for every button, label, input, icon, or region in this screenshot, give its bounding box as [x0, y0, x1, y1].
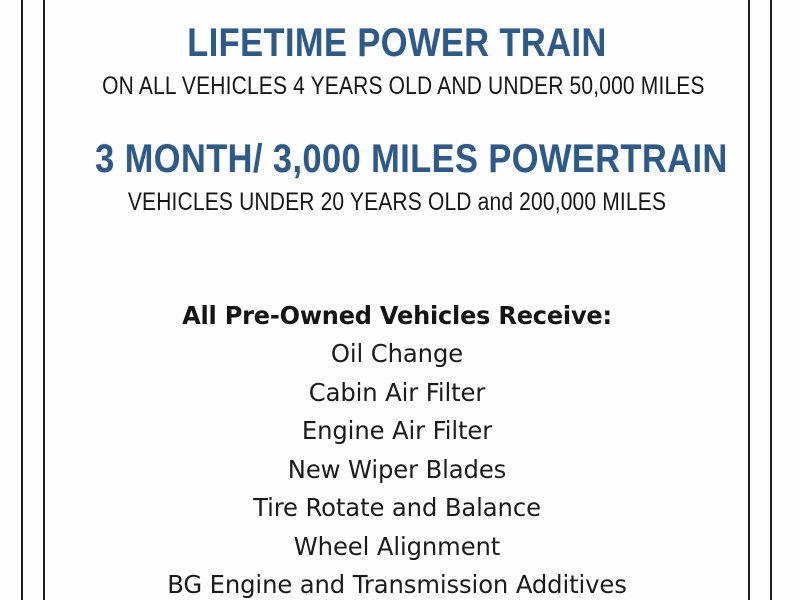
- frame-rule-left-inner: [43, 0, 45, 600]
- list-item: New Wiper Blades: [57, 451, 738, 490]
- list-item: Wheel Alignment: [57, 528, 738, 567]
- warranty-headline-3month: 3 MONTH/ 3,000 MILES POWERTRAIN: [95, 138, 699, 180]
- promo-flyer: LIFETIME POWER TRAIN ON ALL VEHICLES 4 Y…: [0, 0, 800, 600]
- list-item: Oil Change: [57, 335, 738, 374]
- frame-rule-right-inner: [748, 0, 750, 600]
- warranty-subline-lifetime: ON ALL VEHICLES 4 YEARS OLD AND UNDER 50…: [102, 73, 692, 100]
- list-item: Cabin Air Filter: [57, 374, 738, 413]
- list-item: Tire Rotate and Balance: [57, 489, 738, 528]
- warranty-block-lifetime: LIFETIME POWER TRAIN ON ALL VEHICLES 4 Y…: [46, 22, 748, 100]
- warranty-block-3month: 3 MONTH/ 3,000 MILES POWERTRAIN VEHICLES…: [46, 138, 748, 216]
- frame-rule-right-outer: [770, 0, 772, 600]
- frame-rule-left-outer: [21, 0, 23, 600]
- list-item: BG Engine and Transmission Additives: [57, 566, 738, 600]
- list-item: Engine Air Filter: [57, 412, 738, 451]
- flyer-content: LIFETIME POWER TRAIN ON ALL VEHICLES 4 Y…: [46, 0, 748, 600]
- warranty-headline-lifetime: LIFETIME POWER TRAIN: [95, 22, 699, 64]
- services-list: All Pre-Owned Vehicles Receive: Oil Chan…: [46, 297, 748, 600]
- warranty-subline-3month: VEHICLES UNDER 20 YEARS OLD and 200,000 …: [102, 189, 692, 216]
- services-list-title: All Pre-Owned Vehicles Receive:: [60, 297, 734, 335]
